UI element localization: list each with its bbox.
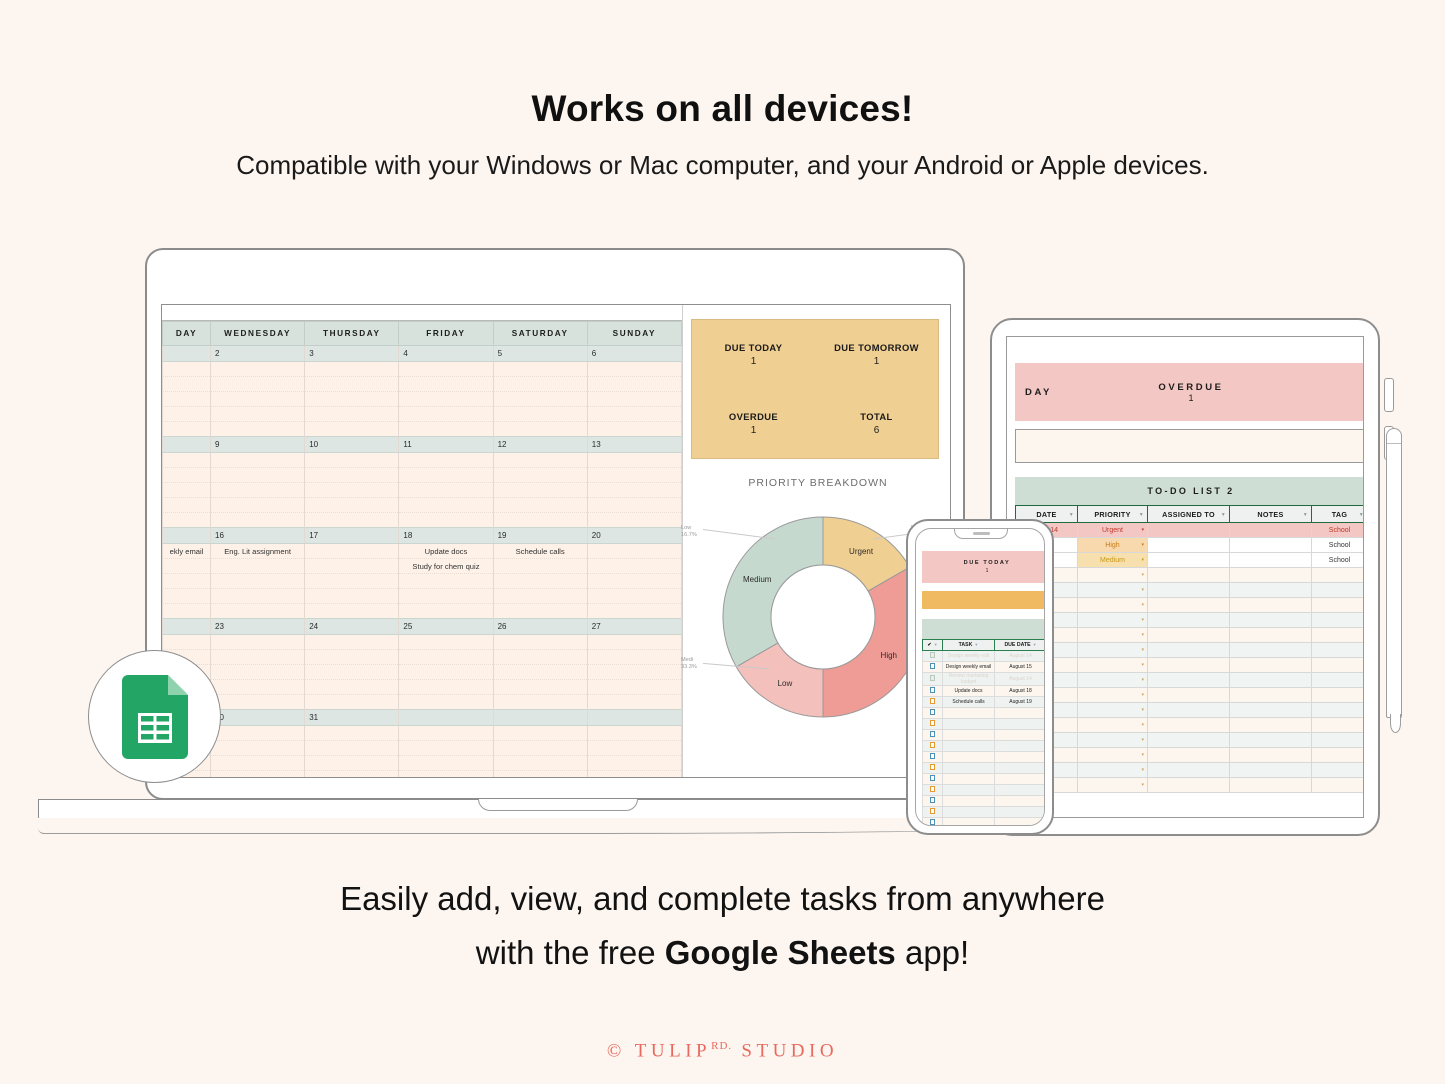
calendar-date-cell[interactable]: 13 <box>587 437 681 453</box>
tablet-priority-cell[interactable]: ▾ <box>1078 658 1148 673</box>
calendar-task-cell[interactable] <box>211 453 305 468</box>
calendar-blank-cell[interactable] <box>211 665 305 680</box>
tablet-table-row[interactable]: ▾ <box>1016 583 1365 598</box>
calendar-date-cell[interactable]: 4 <box>399 346 493 362</box>
calendar-blank-cell[interactable] <box>587 513 681 528</box>
tablet-notes-cell[interactable] <box>1230 568 1312 583</box>
tablet-table-row[interactable]: Medium▾School <box>1016 553 1365 568</box>
calendar-task-cell[interactable] <box>399 468 493 483</box>
tablet-table-row[interactable]: ▾ <box>1016 703 1365 718</box>
calendar-blank-cell[interactable] <box>493 756 587 771</box>
calendar-task-cell[interactable] <box>493 377 587 392</box>
calendar-blank-cell[interactable] <box>399 392 493 407</box>
phone-due-date-cell[interactable] <box>995 785 1046 796</box>
calendar-task-cell[interactable] <box>163 362 211 377</box>
calendar-task-cell[interactable] <box>493 741 587 756</box>
calendar-blank-cell[interactable] <box>211 407 305 422</box>
tablet-priority-cell[interactable]: ▾ <box>1078 673 1148 688</box>
tablet-assigned-cell[interactable] <box>1148 733 1230 748</box>
calendar-date-cell[interactable] <box>399 710 493 726</box>
phone-due-date-cell[interactable]: August 14 <box>995 651 1046 662</box>
phone-due-date-cell[interactable] <box>995 741 1046 752</box>
phone-task-row[interactable] <box>923 752 1046 763</box>
tablet-column-header[interactable]: PRIORITY▼ <box>1078 506 1148 523</box>
calendar-date-cell[interactable]: 24 <box>305 619 399 635</box>
calendar-task-cell[interactable] <box>493 559 587 574</box>
calendar-blank-cell[interactable] <box>587 574 681 589</box>
calendar-blank-cell[interactable] <box>587 665 681 680</box>
dropdown-caret-icon[interactable]: ▾ <box>1141 722 1144 728</box>
calendar-blank-cell[interactable] <box>163 604 211 619</box>
calendar-date-cell[interactable] <box>163 346 211 362</box>
calendar-date-cell[interactable]: 10 <box>305 437 399 453</box>
phone-task-cell[interactable] <box>943 807 995 818</box>
tablet-notes-cell[interactable] <box>1230 688 1312 703</box>
tablet-priority-cell[interactable]: ▾ <box>1078 688 1148 703</box>
phone-task-cell[interactable] <box>943 752 995 763</box>
calendar-blank-cell[interactable] <box>587 407 681 422</box>
phone-task-cell[interactable] <box>943 796 995 807</box>
calendar-date-cell[interactable]: 20 <box>587 528 681 544</box>
calendar-blank-cell[interactable] <box>305 589 399 604</box>
calendar-blank-cell[interactable] <box>587 680 681 695</box>
calendar-blank-cell[interactable] <box>399 665 493 680</box>
phone-checkbox-cell[interactable] <box>923 774 943 785</box>
tablet-priority-cell[interactable]: ▾ <box>1078 613 1148 628</box>
tablet-priority-cell[interactable]: ▾ <box>1078 598 1148 613</box>
dropdown-caret-icon[interactable]: ▾ <box>1141 632 1144 638</box>
calendar-blank-cell[interactable] <box>305 407 399 422</box>
calendar-blank-cell[interactable] <box>211 483 305 498</box>
dropdown-caret-icon[interactable]: ▾ <box>1141 767 1144 773</box>
calendar-blank-cell[interactable] <box>399 680 493 695</box>
dropdown-caret-icon[interactable]: ▾ <box>1141 647 1144 653</box>
calendar-blank-cell[interactable] <box>211 574 305 589</box>
tablet-tag-cell[interactable]: School <box>1312 538 1365 553</box>
calendar-blank-cell[interactable] <box>163 589 211 604</box>
tablet-table-row[interactable]: ▾ <box>1016 658 1365 673</box>
tablet-table-row[interactable]: ▾ <box>1016 778 1365 793</box>
tablet-assigned-cell[interactable] <box>1148 538 1230 553</box>
checkbox-icon[interactable] <box>930 698 936 704</box>
calendar-task-cell[interactable] <box>305 559 399 574</box>
phone-task-cell[interactable] <box>943 763 995 774</box>
phone-task-cell[interactable]: Review marketing budget <box>943 673 995 686</box>
calendar-task-cell[interactable] <box>587 726 681 741</box>
phone-due-date-cell[interactable]: August 19 <box>995 697 1046 708</box>
phone-task-cell[interactable] <box>943 730 995 741</box>
phone-due-date-cell[interactable] <box>995 774 1046 785</box>
calendar-date-cell[interactable]: 25 <box>399 619 493 635</box>
phone-task-row[interactable]: Design weekly emailAugust 15 <box>923 662 1046 673</box>
calendar-task-cell[interactable] <box>493 362 587 377</box>
tablet-assigned-cell[interactable] <box>1148 718 1230 733</box>
tablet-assigned-cell[interactable] <box>1148 628 1230 643</box>
phone-checkbox-cell[interactable] <box>923 785 943 796</box>
tablet-tag-cell[interactable] <box>1312 583 1365 598</box>
filter-icon[interactable]: ▼ <box>1033 642 1037 647</box>
calendar-date-cell[interactable]: 11 <box>399 437 493 453</box>
calendar-blank-cell[interactable] <box>163 483 211 498</box>
phone-checkbox-cell[interactable] <box>923 719 943 730</box>
tablet-tag-cell[interactable] <box>1312 598 1365 613</box>
tablet-priority-cell[interactable]: ▾ <box>1078 748 1148 763</box>
phone-column-header[interactable]: TASK▼ <box>943 640 995 651</box>
phone-task-row[interactable] <box>923 763 1046 774</box>
tablet-notes-cell[interactable] <box>1230 538 1312 553</box>
tablet-tag-cell[interactable] <box>1312 628 1365 643</box>
phone-due-date-cell[interactable] <box>995 818 1046 827</box>
calendar-task-cell[interactable] <box>211 559 305 574</box>
phone-due-date-cell[interactable]: August 14 <box>995 673 1046 686</box>
calendar-blank-cell[interactable] <box>163 574 211 589</box>
calendar-blank-cell[interactable] <box>493 680 587 695</box>
calendar-date-cell[interactable]: 5 <box>493 346 587 362</box>
phone-task-row[interactable] <box>923 719 1046 730</box>
checkbox-icon[interactable] <box>930 731 936 737</box>
calendar-blank-cell[interactable] <box>493 392 587 407</box>
tablet-assigned-cell[interactable] <box>1148 568 1230 583</box>
tablet-tag-cell[interactable] <box>1312 568 1365 583</box>
calendar-task-cell[interactable] <box>587 544 681 559</box>
calendar-blank-cell[interactable] <box>211 498 305 513</box>
phone-task-row[interactable] <box>923 774 1046 785</box>
calendar-task-cell[interactable] <box>493 635 587 650</box>
calendar-task-cell[interactable] <box>587 559 681 574</box>
calendar-task-cell[interactable] <box>399 635 493 650</box>
calendar-blank-cell[interactable] <box>211 771 305 779</box>
calendar-blank-cell[interactable] <box>399 771 493 779</box>
calendar-blank-cell[interactable] <box>163 498 211 513</box>
checkbox-icon[interactable] <box>930 720 936 726</box>
calendar-task-cell[interactable] <box>211 468 305 483</box>
calendar-task-cell[interactable] <box>163 559 211 574</box>
calendar-date-cell[interactable] <box>587 710 681 726</box>
filter-icon[interactable]: ▼ <box>1069 512 1074 518</box>
tablet-priority-cell[interactable]: ▾ <box>1078 763 1148 778</box>
calendar-task-cell[interactable] <box>399 726 493 741</box>
tablet-tag-cell[interactable] <box>1312 733 1365 748</box>
tablet-column-header[interactable]: NOTES▼ <box>1230 506 1312 523</box>
calendar-date-cell[interactable]: 18 <box>399 528 493 544</box>
calendar-task-cell[interactable] <box>493 453 587 468</box>
tablet-table-row[interactable]: High▾School <box>1016 538 1365 553</box>
phone-column-header[interactable]: DUE DATE▼ <box>995 640 1046 651</box>
calendar-blank-cell[interactable] <box>305 665 399 680</box>
calendar-task-cell[interactable]: Update docs <box>399 544 493 559</box>
tablet-table-row[interactable]: ▾ <box>1016 643 1365 658</box>
phone-checkbox-cell[interactable] <box>923 730 943 741</box>
tablet-assigned-cell[interactable] <box>1148 673 1230 688</box>
calendar-task-cell[interactable]: Eng. Lit assignment <box>211 544 305 559</box>
calendar-task-cell[interactable] <box>305 377 399 392</box>
calendar-task-cell[interactable] <box>587 468 681 483</box>
calendar-date-cell[interactable]: 9 <box>211 437 305 453</box>
calendar-blank-cell[interactable] <box>399 604 493 619</box>
calendar-blank-cell[interactable] <box>493 589 587 604</box>
dropdown-caret-icon[interactable]: ▾ <box>1141 752 1144 758</box>
tablet-table-row[interactable]: ▾ <box>1016 673 1365 688</box>
tablet-priority-cell[interactable]: High▾ <box>1078 538 1148 553</box>
calendar-task-cell[interactable] <box>587 741 681 756</box>
calendar-blank-cell[interactable] <box>399 513 493 528</box>
filter-icon[interactable]: ▼ <box>1221 512 1226 518</box>
calendar-blank-cell[interactable] <box>587 756 681 771</box>
phone-checkbox-cell[interactable] <box>923 686 943 697</box>
tablet-priority-cell[interactable]: ▾ <box>1078 778 1148 793</box>
phone-task-row[interactable] <box>923 741 1046 752</box>
checkbox-icon[interactable] <box>930 652 936 658</box>
calendar-task-cell[interactable] <box>587 635 681 650</box>
tablet-notes-cell[interactable] <box>1230 553 1312 568</box>
calendar-blank-cell[interactable] <box>163 407 211 422</box>
calendar-date-cell[interactable]: 31 <box>305 710 399 726</box>
tablet-notes-cell[interactable] <box>1230 583 1312 598</box>
calendar-blank-cell[interactable] <box>587 392 681 407</box>
calendar-blank-cell[interactable] <box>211 513 305 528</box>
calendar-blank-cell[interactable] <box>399 407 493 422</box>
tablet-tag-cell[interactable] <box>1312 613 1365 628</box>
tablet-tag-cell[interactable] <box>1312 778 1365 793</box>
calendar-task-cell[interactable] <box>399 650 493 665</box>
phone-task-row[interactable] <box>923 730 1046 741</box>
tablet-tag-cell[interactable] <box>1312 703 1365 718</box>
calendar-blank-cell[interactable] <box>587 589 681 604</box>
calendar-task-cell[interactable] <box>163 468 211 483</box>
tablet-notes-cell[interactable] <box>1230 673 1312 688</box>
calendar-blank-cell[interactable] <box>305 483 399 498</box>
calendar-blank-cell[interactable] <box>399 483 493 498</box>
tablet-priority-cell[interactable]: ▾ <box>1078 583 1148 598</box>
phone-task-row[interactable]: Update docsAugust 18 <box>923 686 1046 697</box>
calendar-blank-cell[interactable] <box>211 604 305 619</box>
checkbox-icon[interactable] <box>930 709 936 715</box>
calendar-date-cell[interactable] <box>493 710 587 726</box>
calendar-blank-cell[interactable] <box>587 604 681 619</box>
calendar-blank-cell[interactable] <box>587 498 681 513</box>
phone-checkbox-cell[interactable] <box>923 697 943 708</box>
phone-task-row[interactable]: Design weekly editAugust 14 <box>923 651 1046 662</box>
calendar-task-cell[interactable] <box>493 650 587 665</box>
calendar-date-cell[interactable]: 16 <box>211 528 305 544</box>
calendar-blank-cell[interactable] <box>399 422 493 437</box>
calendar-task-cell[interactable] <box>399 362 493 377</box>
tablet-table-row[interactable]: ▾ <box>1016 598 1365 613</box>
calendar-task-cell[interactable]: ekly email <box>163 544 211 559</box>
checkbox-icon[interactable] <box>930 808 936 814</box>
calendar-date-cell[interactable]: 19 <box>493 528 587 544</box>
calendar-blank-cell[interactable] <box>305 771 399 779</box>
calendar-task-cell[interactable] <box>211 741 305 756</box>
tablet-notes-cell[interactable] <box>1230 763 1312 778</box>
calendar-date-cell[interactable]: 27 <box>587 619 681 635</box>
dropdown-caret-icon[interactable]: ▾ <box>1141 542 1144 548</box>
calendar-blank-cell[interactable] <box>399 589 493 604</box>
calendar-task-cell[interactable] <box>211 635 305 650</box>
tablet-tag-cell[interactable] <box>1312 718 1365 733</box>
calendar-date-cell[interactable] <box>163 619 211 635</box>
phone-task-cell[interactable] <box>943 818 995 827</box>
calendar-task-cell[interactable] <box>163 377 211 392</box>
phone-task-cell[interactable]: Schedule calls <box>943 697 995 708</box>
tablet-priority-cell[interactable]: ▾ <box>1078 643 1148 658</box>
tablet-notes-cell[interactable] <box>1230 733 1312 748</box>
tablet-table-row[interactable]: ▾ <box>1016 733 1365 748</box>
calendar-date-cell[interactable]: 2 <box>211 346 305 362</box>
dropdown-caret-icon[interactable]: ▾ <box>1141 602 1144 608</box>
calendar-blank-cell[interactable] <box>493 695 587 710</box>
filter-icon[interactable]: ▼ <box>1139 512 1144 518</box>
checkbox-icon[interactable] <box>930 786 936 792</box>
calendar-task-cell[interactable] <box>587 650 681 665</box>
tablet-table-row[interactable]: ▾ <box>1016 688 1365 703</box>
dropdown-caret-icon[interactable]: ▾ <box>1141 617 1144 623</box>
calendar-task-cell[interactable] <box>399 377 493 392</box>
tablet-priority-cell[interactable]: ▾ <box>1078 628 1148 643</box>
phone-checkbox-cell[interactable] <box>923 796 943 807</box>
tablet-tag-cell[interactable]: School <box>1312 553 1365 568</box>
filter-icon[interactable]: ▼ <box>934 642 938 647</box>
calendar-task-cell[interactable] <box>587 377 681 392</box>
calendar-date-cell[interactable]: 23 <box>211 619 305 635</box>
calendar-task-cell[interactable] <box>399 453 493 468</box>
tablet-tag-cell[interactable] <box>1312 643 1365 658</box>
tablet-assigned-cell[interactable] <box>1148 523 1230 538</box>
tablet-volume-up-button[interactable] <box>1384 378 1394 412</box>
checkbox-icon[interactable] <box>930 687 936 693</box>
calendar-date-cell[interactable] <box>163 528 211 544</box>
tablet-column-header[interactable]: ASSIGNED TO▼ <box>1148 506 1230 523</box>
phone-checkbox-cell[interactable] <box>923 662 943 673</box>
phone-checkbox-cell[interactable] <box>923 741 943 752</box>
phone-due-date-cell[interactable] <box>995 708 1046 719</box>
calendar-blank-cell[interactable] <box>305 422 399 437</box>
calendar-blank-cell[interactable] <box>305 695 399 710</box>
tablet-priority-cell[interactable]: ▾ <box>1078 703 1148 718</box>
phone-task-cell[interactable]: Update docs <box>943 686 995 697</box>
phone-checkbox-cell[interactable] <box>923 673 943 686</box>
phone-checkbox-cell[interactable] <box>923 708 943 719</box>
tablet-assigned-cell[interactable] <box>1148 658 1230 673</box>
phone-checkbox-column-header[interactable]: ✔▼ <box>923 640 943 651</box>
calendar-blank-cell[interactable] <box>163 513 211 528</box>
calendar-blank-cell[interactable] <box>587 771 681 779</box>
phone-checkbox-cell[interactable] <box>923 763 943 774</box>
phone-task-cell[interactable] <box>943 708 995 719</box>
calendar-task-cell[interactable] <box>399 741 493 756</box>
phone-task-cell[interactable] <box>943 719 995 730</box>
tablet-assigned-cell[interactable] <box>1148 598 1230 613</box>
phone-task-row[interactable] <box>923 785 1046 796</box>
phone-task-row[interactable] <box>923 818 1046 827</box>
tablet-table-row[interactable]: ▾ <box>1016 568 1365 583</box>
filter-icon[interactable]: ▼ <box>974 642 978 647</box>
calendar-date-cell[interactable]: 12 <box>493 437 587 453</box>
phone-checkbox-cell[interactable] <box>923 651 943 662</box>
calendar-blank-cell[interactable] <box>211 695 305 710</box>
phone-task-cell[interactable] <box>943 785 995 796</box>
phone-due-date-cell[interactable] <box>995 719 1046 730</box>
phone-task-row[interactable]: Schedule callsAugust 19 <box>923 697 1046 708</box>
tablet-table-row[interactable]: ▾ <box>1016 628 1365 643</box>
tablet-input-strip[interactable] <box>1015 429 1364 463</box>
calendar-task-cell[interactable] <box>211 726 305 741</box>
calendar-blank-cell[interactable] <box>493 604 587 619</box>
dropdown-caret-icon[interactable]: ▾ <box>1141 737 1144 743</box>
tablet-priority-cell[interactable]: Urgent▾ <box>1078 523 1148 538</box>
calendar-task-cell[interactable] <box>211 362 305 377</box>
calendar-task-cell[interactable] <box>493 726 587 741</box>
tablet-notes-cell[interactable] <box>1230 778 1312 793</box>
calendar-task-cell[interactable]: Schedule calls <box>493 544 587 559</box>
tablet-table-row[interactable]: gust 14Urgent▾School <box>1016 523 1365 538</box>
calendar-task-cell[interactable] <box>305 453 399 468</box>
tablet-assigned-cell[interactable] <box>1148 553 1230 568</box>
phone-task-row[interactable]: Review marketing budgetAugust 14 <box>923 673 1046 686</box>
calendar-blank-cell[interactable] <box>305 513 399 528</box>
checkbox-icon[interactable] <box>930 663 936 669</box>
calendar-blank-cell[interactable] <box>493 498 587 513</box>
calendar-task-cell[interactable] <box>587 453 681 468</box>
phone-checkbox-cell[interactable] <box>923 818 943 827</box>
tablet-tag-cell[interactable] <box>1312 748 1365 763</box>
tablet-assigned-cell[interactable] <box>1148 688 1230 703</box>
calendar-task-cell[interactable] <box>163 635 211 650</box>
tablet-notes-cell[interactable] <box>1230 628 1312 643</box>
tablet-assigned-cell[interactable] <box>1148 748 1230 763</box>
tablet-tag-cell[interactable]: School <box>1312 523 1365 538</box>
phone-task-cell[interactable]: Design weekly edit <box>943 651 995 662</box>
dropdown-caret-icon[interactable]: ▾ <box>1141 662 1144 668</box>
phone-task-row[interactable] <box>923 708 1046 719</box>
dropdown-caret-icon[interactable]: ▾ <box>1141 557 1144 563</box>
phone-task-cell[interactable] <box>943 774 995 785</box>
dropdown-caret-icon[interactable]: ▾ <box>1141 782 1144 788</box>
calendar-blank-cell[interactable] <box>211 422 305 437</box>
phone-task-cell[interactable]: Design weekly email <box>943 662 995 673</box>
tablet-table-row[interactable]: ▾ <box>1016 718 1365 733</box>
calendar-date-cell[interactable]: 26 <box>493 619 587 635</box>
dropdown-caret-icon[interactable]: ▾ <box>1141 572 1144 578</box>
tablet-table-row[interactable]: ▾ <box>1016 748 1365 763</box>
tablet-notes-cell[interactable] <box>1230 523 1312 538</box>
calendar-date-cell[interactable] <box>163 437 211 453</box>
calendar-blank-cell[interactable] <box>305 392 399 407</box>
phone-task-row[interactable] <box>923 807 1046 818</box>
calendar-blank-cell[interactable] <box>493 422 587 437</box>
checkbox-icon[interactable] <box>930 742 936 748</box>
checkbox-icon[interactable] <box>930 775 936 781</box>
calendar-blank-cell[interactable] <box>399 756 493 771</box>
tablet-assigned-cell[interactable] <box>1148 763 1230 778</box>
tablet-table-row[interactable]: ▾ <box>1016 763 1365 778</box>
tablet-notes-cell[interactable] <box>1230 658 1312 673</box>
phone-checkbox-cell[interactable] <box>923 807 943 818</box>
checkbox-icon[interactable] <box>930 819 936 825</box>
calendar-blank-cell[interactable] <box>587 695 681 710</box>
calendar-blank-cell[interactable] <box>305 574 399 589</box>
calendar-blank-cell[interactable] <box>305 604 399 619</box>
dropdown-caret-icon[interactable]: ▾ <box>1141 527 1144 533</box>
filter-icon[interactable]: ▼ <box>1303 512 1308 518</box>
calendar-blank-cell[interactable] <box>305 680 399 695</box>
calendar-blank-cell[interactable] <box>211 680 305 695</box>
phone-due-date-cell[interactable]: August 18 <box>995 686 1046 697</box>
calendar-task-cell[interactable] <box>305 650 399 665</box>
calendar-date-cell[interactable]: 6 <box>587 346 681 362</box>
calendar-task-cell[interactable] <box>211 377 305 392</box>
calendar-blank-cell[interactable] <box>211 392 305 407</box>
